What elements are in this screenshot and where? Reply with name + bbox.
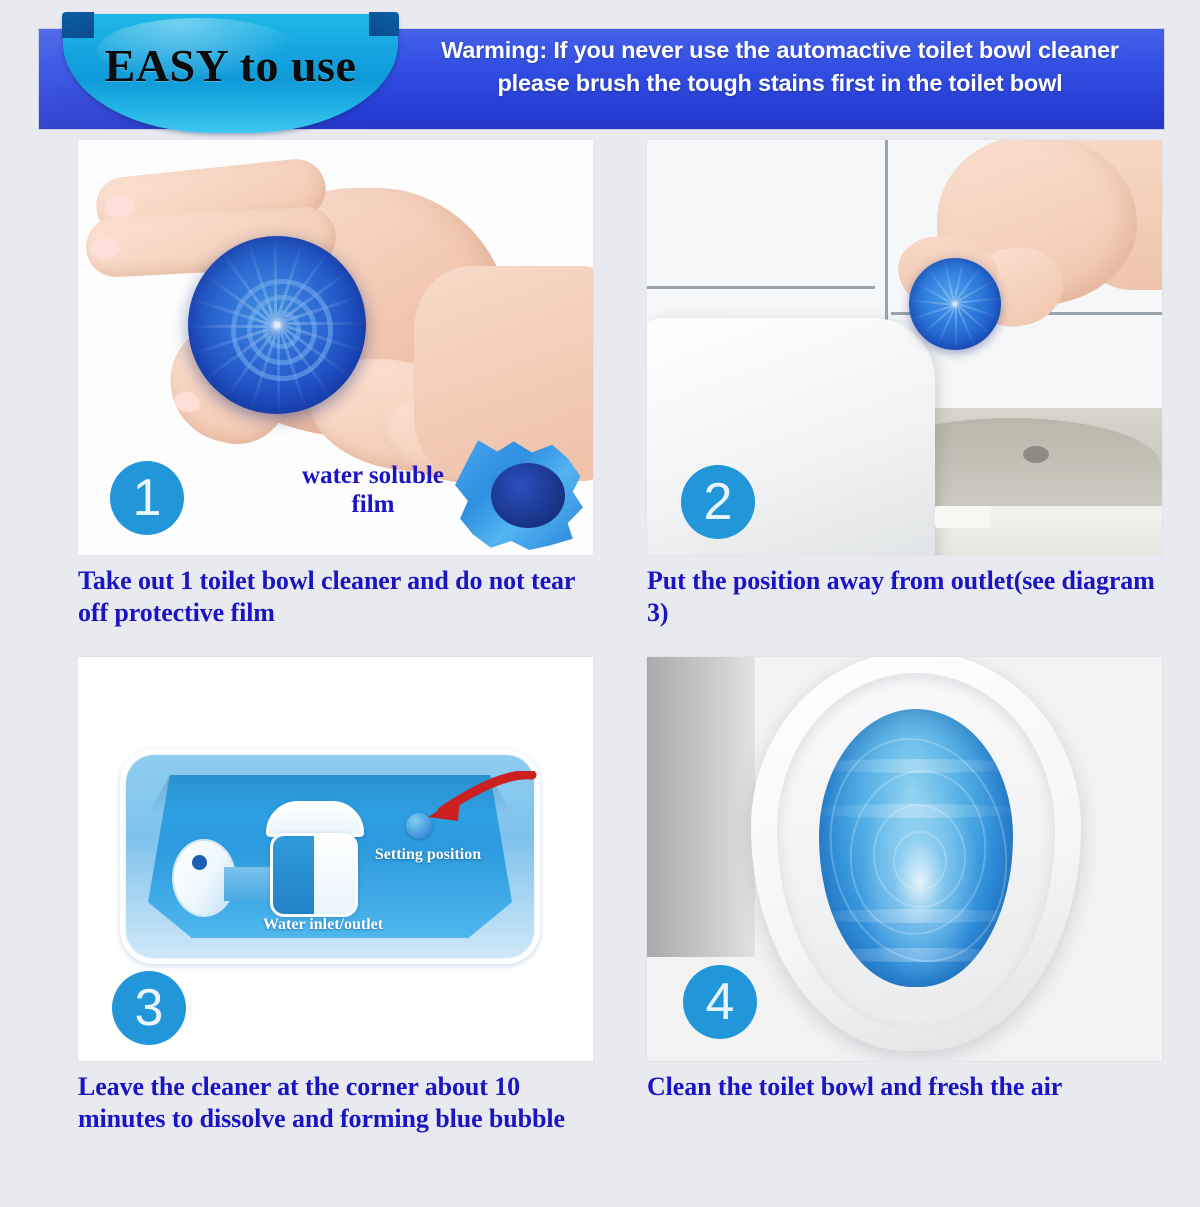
step-4-photo: 4 bbox=[647, 657, 1162, 1061]
toilet-cleaner-puck bbox=[909, 258, 1001, 350]
water-soluble-film-label: water soluble film bbox=[293, 461, 453, 519]
step-2-photo: 2 bbox=[647, 140, 1162, 555]
warning-line-1: Warming: If you never use the automactiv… bbox=[400, 34, 1160, 67]
header-banner: EASY to use Warming: If you never use th… bbox=[0, 0, 1200, 140]
fingernail bbox=[90, 237, 121, 261]
step-3-photo: Setting position Water inlet/outlet 3 bbox=[78, 657, 593, 1061]
film-disc bbox=[491, 463, 565, 528]
water-wave bbox=[819, 909, 1013, 923]
step-number-badge-1: 1 bbox=[110, 461, 184, 535]
cistern-diagram: Setting position Water inlet/outlet bbox=[120, 749, 540, 964]
water-wave bbox=[819, 804, 1013, 818]
steps-row-1: water soluble film 1 Take out 1 toilet b… bbox=[0, 140, 1200, 639]
step-number-badge-2: 2 bbox=[681, 465, 755, 539]
step-1-photo: water soluble film 1 bbox=[78, 140, 593, 555]
steps-grid: water soluble film 1 Take out 1 toilet b… bbox=[0, 140, 1200, 1145]
blue-water-swirl bbox=[819, 709, 1013, 987]
warning-text: Warming: If you never use the automactiv… bbox=[400, 34, 1160, 100]
step-1: water soluble film 1 Take out 1 toilet b… bbox=[78, 140, 618, 629]
step-4: 4 Clean the toilet bowl and fresh the ai… bbox=[647, 657, 1187, 1135]
step-number-badge-4: 4 bbox=[683, 965, 757, 1039]
flush-valve-left-half bbox=[273, 836, 314, 914]
step-3-caption: Leave the cleaner at the corner about 10… bbox=[78, 1071, 598, 1135]
step-4-caption: Clean the toilet bowl and fresh the air bbox=[647, 1071, 1167, 1103]
thumbnail bbox=[172, 389, 202, 415]
tile-grout-horizontal-left bbox=[647, 286, 875, 289]
red-arrow-icon bbox=[420, 771, 540, 837]
step-2-caption: Put the position away from outlet(see di… bbox=[647, 565, 1167, 629]
warning-line-2: please brush the tough stains first in t… bbox=[400, 67, 1160, 100]
water-inlet-outlet-label: Water inlet/outlet bbox=[228, 915, 418, 934]
setting-position-label: Setting position bbox=[372, 845, 484, 864]
step-1-caption: Take out 1 toilet bowl cleaner and do no… bbox=[78, 565, 598, 629]
step-2: 2 Put the position away from outlet(see … bbox=[647, 140, 1187, 629]
step-3: Setting position Water inlet/outlet 3 Le… bbox=[78, 657, 618, 1135]
page-title: EASY to use bbox=[63, 14, 398, 133]
steps-row-2: Setting position Water inlet/outlet 3 Le… bbox=[0, 657, 1200, 1145]
flush-valve bbox=[270, 833, 358, 917]
toilet-cleaner-puck bbox=[188, 236, 366, 414]
swirl-line bbox=[893, 831, 947, 891]
hand-dropping-cleaner-illustration bbox=[875, 140, 1162, 380]
wall-shadow bbox=[647, 657, 755, 957]
water-wave bbox=[819, 948, 1013, 962]
water-soluble-film-inset bbox=[455, 438, 583, 550]
tank-bolt-hole bbox=[1023, 446, 1049, 463]
flush-valve-cap bbox=[266, 801, 364, 837]
step-number-badge-3: 3 bbox=[112, 971, 186, 1045]
float-ball-dot bbox=[192, 855, 207, 870]
water-wave bbox=[819, 759, 1013, 773]
tank-tab bbox=[935, 506, 991, 528]
